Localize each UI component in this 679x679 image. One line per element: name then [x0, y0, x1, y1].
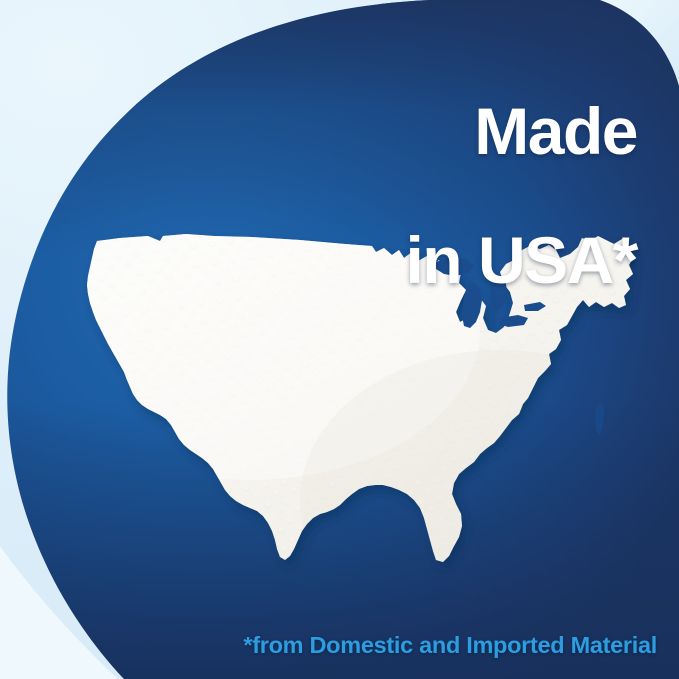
footnote-text: *from Domestic and Imported Material — [0, 632, 657, 659]
headline-line-2: in USA* — [217, 228, 637, 293]
marketing-graphic-canvas: Made in USA* *from Domestic and Imported… — [0, 0, 679, 679]
page-title: Made in USA* — [217, 34, 637, 357]
headline-line-1: Made — [217, 99, 637, 164]
